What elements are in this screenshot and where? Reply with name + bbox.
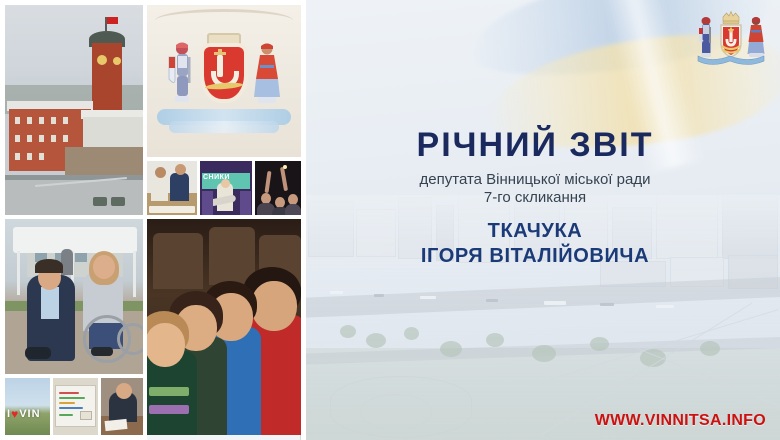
subtitle-line-1: депутата Вінницької міської ради [300, 171, 770, 190]
letter-i: I [7, 409, 10, 420]
man-signing-documents-photo [101, 378, 143, 435]
deputy-name-block: ТКАЧУКА ІГОРЯ ВІТАЛІЙОВИЧА [300, 219, 770, 268]
annual-report-poster: РІЧНИЙ ЗВІТ депутата Вінницької міської … [0, 0, 780, 440]
subtitle-line-2: 7-го скликання [300, 189, 770, 208]
letter-i2: I [28, 409, 31, 420]
letter-v: V [19, 409, 26, 420]
photo-collage: СНИКИ [0, 0, 306, 440]
smiling-children-photo [147, 219, 301, 435]
deputy-fullname: ІГОРЯ ВІТАЛІЙОВИЧА [300, 244, 770, 268]
coat-of-arms-relief-photo [147, 5, 301, 157]
coat-of-arms-icon [694, 8, 768, 70]
relief-lady-figure [251, 41, 283, 107]
title-block: РІЧНИЙ ЗВІТ депутата Вінницької міської … [300, 128, 770, 268]
council-meeting-photo [147, 161, 197, 215]
deputy-surname: ТКАЧУКА [300, 219, 770, 243]
website-url[interactable]: WWW.VINNITSA.INFO [595, 412, 766, 430]
audience-crowd-photo [255, 161, 301, 215]
page-title: РІЧНИЙ ЗВІТ [300, 128, 770, 164]
presentation-screen-photo [53, 378, 98, 435]
i-love-vin-letters: I ♥ V I N [7, 406, 48, 422]
wheelchair-meeting-photo [5, 219, 143, 374]
heart-icon: ♥ [11, 408, 18, 420]
letter-n: N [32, 409, 40, 420]
relief-knight-figure [167, 41, 197, 107]
concert-stage-photo: СНИКИ [200, 161, 252, 215]
city-water-tower-photo [5, 5, 143, 215]
i-love-vin-sign-photo: I ♥ V I N [5, 378, 50, 435]
